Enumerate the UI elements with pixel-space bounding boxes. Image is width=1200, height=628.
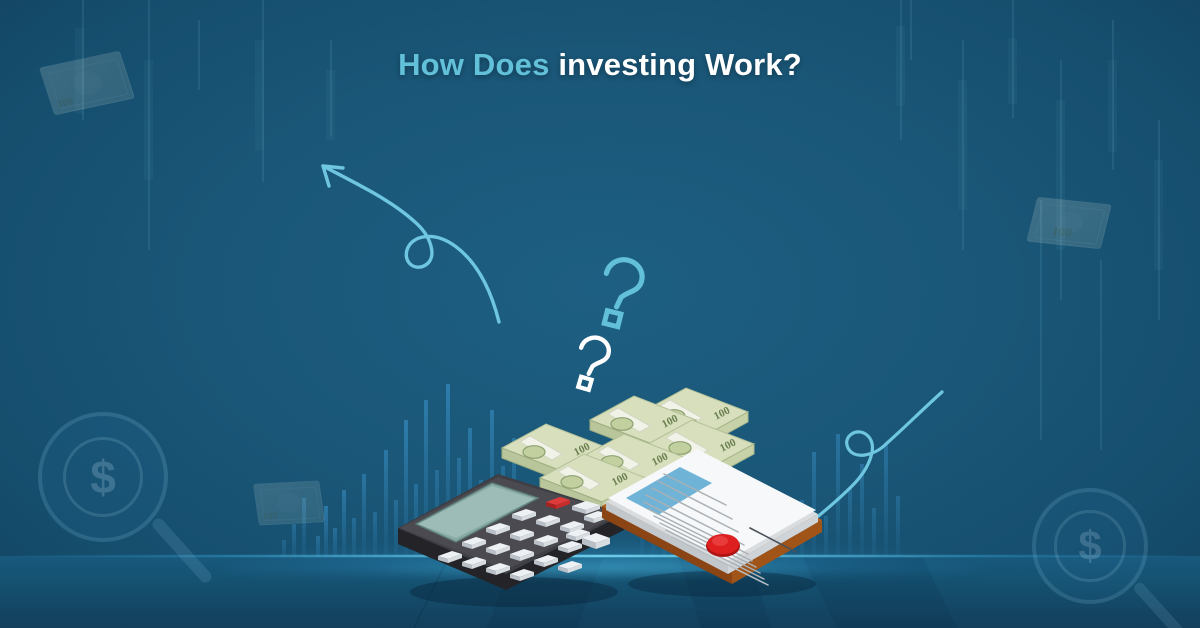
question-mark-large (586, 255, 652, 331)
hero-banner: 100 100 100 $ $ How Does investing Work? (0, 0, 1200, 628)
floating-dollar-bill-right: 100 (1026, 197, 1111, 249)
dollar-symbol: $ (1054, 510, 1125, 581)
bill-denomination: 100 (262, 510, 279, 522)
dollar-symbol: $ (63, 437, 144, 518)
contract-document[interactable] (600, 448, 830, 605)
magnifier-dollar-left: $ (38, 412, 168, 542)
bill-denomination: 100 (55, 96, 75, 111)
bill-denomination: 100 (1050, 224, 1073, 242)
calculator[interactable] (386, 466, 636, 611)
page-title-accent: How Does (398, 47, 549, 82)
floating-dollar-bill-left: 100 (253, 480, 325, 525)
page-title-main: investing Work? (558, 47, 802, 82)
question-mark-small (565, 334, 617, 394)
page-title: How Does investing Work? (0, 47, 1200, 83)
arrow-up-left (295, 140, 525, 330)
magnifier-dollar-right: $ (1032, 488, 1148, 604)
